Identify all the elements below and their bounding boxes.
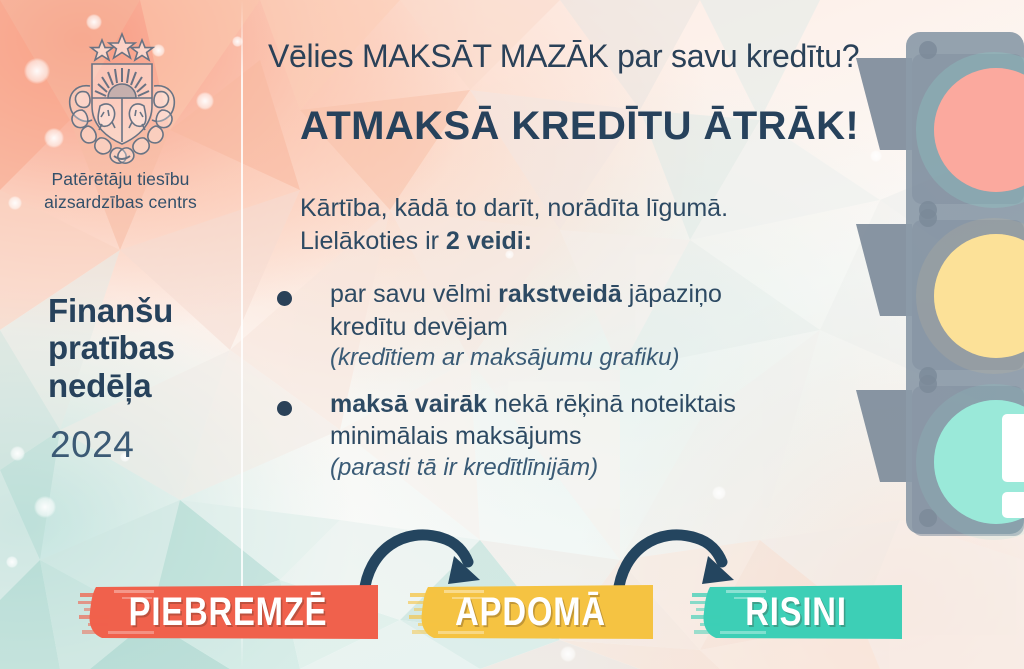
campaign-title-line2: pratības [48, 329, 175, 366]
campaign-title-line1: Finanšu [48, 292, 175, 329]
lead-paragraph: Kārtība, kādā to darīt, norādīta līgumā.… [300, 192, 900, 258]
bullet-1-line-2: kredītu devējam [330, 311, 908, 344]
campaign-year: 2024 [50, 424, 134, 466]
visor-yellow [856, 224, 912, 316]
bullet-1-strong: rakstveidā [498, 280, 622, 308]
bullet-list: par savu vēlmi rakstveidā jāpaziņo kredī… [268, 278, 908, 497]
step-banner-label: APDOMĀ [430, 590, 631, 635]
traffic-light-icon [856, 18, 1024, 548]
bullet-1-line-1: par savu vēlmi rakstveidā jāpaziņo [330, 278, 908, 311]
lead-line-2: Lielākoties ir 2 veidi: [300, 225, 900, 258]
lead-line-1: Kārtība, kādā to darīt, norādīta līgumā. [300, 192, 900, 225]
bullet-2-suffix: nekā rēķinā noteiktais [487, 390, 736, 418]
pedestrian-figure-icon [1002, 414, 1024, 518]
visor-green [856, 390, 912, 482]
page-title: ATMAKSĀ KREDĪTU ĀTRĀK! [300, 104, 940, 149]
bullet-2-line-1: maksā vairāk nekā rēķinā noteiktais [330, 388, 908, 421]
bullet-2-text: maksā vairāk nekā rēķinā noteiktais mini… [330, 388, 908, 453]
lead-line-2-prefix: Lielākoties ir [300, 227, 446, 255]
column-divider [241, 0, 243, 669]
step-banner-label: RISINI [709, 590, 883, 635]
bullet-2-line-2: minimālais maksājums [330, 420, 908, 453]
bullet-1-prefix: par savu vēlmi [330, 280, 498, 308]
organisation-name-line2: aizsardzības centrs [0, 191, 241, 214]
organisation-name: Patērētāju tiesību aizsardzības centrs [0, 168, 241, 215]
kicker-question: Vēlies MAKSĀT MAZĀK par savu kredītu? [268, 38, 908, 75]
visor-red [856, 58, 912, 150]
bullet-2-strong: maksā vairāk [330, 390, 487, 418]
campaign-title-line3: nedēļa [48, 367, 175, 404]
lead-line-2-strong: 2 veidi: [446, 227, 532, 255]
bullet-1-note: (kredītiem ar maksājumu grafiku) [330, 343, 908, 374]
sidebar: Patērētāju tiesību aizsardzības centrs F… [0, 0, 241, 669]
poster-canvas: Patērētāju tiesību aizsardzības centrs F… [0, 0, 1024, 669]
latvian-coat-of-arms-icon [58, 28, 186, 164]
bullet-1-suffix: jāpaziņo [622, 280, 722, 308]
bullet-dot-icon [277, 401, 292, 416]
step-banner-apdoma[interactable]: APDOMĀ [408, 584, 653, 640]
list-item: par savu vēlmi rakstveidā jāpaziņo kredī… [268, 278, 908, 374]
campaign-title: Finanšu pratības nedēļa [48, 292, 175, 404]
step-banner-risini[interactable]: RISINI [690, 584, 902, 640]
bullet-dot-icon [277, 291, 292, 306]
organisation-name-line1: Patērētāju tiesību [0, 168, 241, 191]
list-item: maksā vairāk nekā rēķinā noteiktais mini… [268, 388, 908, 484]
bullet-2-note: (parasti tā ir kredītlīnijām) [330, 453, 908, 484]
step-banner-label: PIEBREMZĒ [105, 590, 351, 635]
bullet-1-text: par savu vēlmi rakstveidā jāpaziņo kredī… [330, 278, 908, 343]
step-banner-piebremze[interactable]: PIEBREMZĒ [78, 584, 378, 640]
